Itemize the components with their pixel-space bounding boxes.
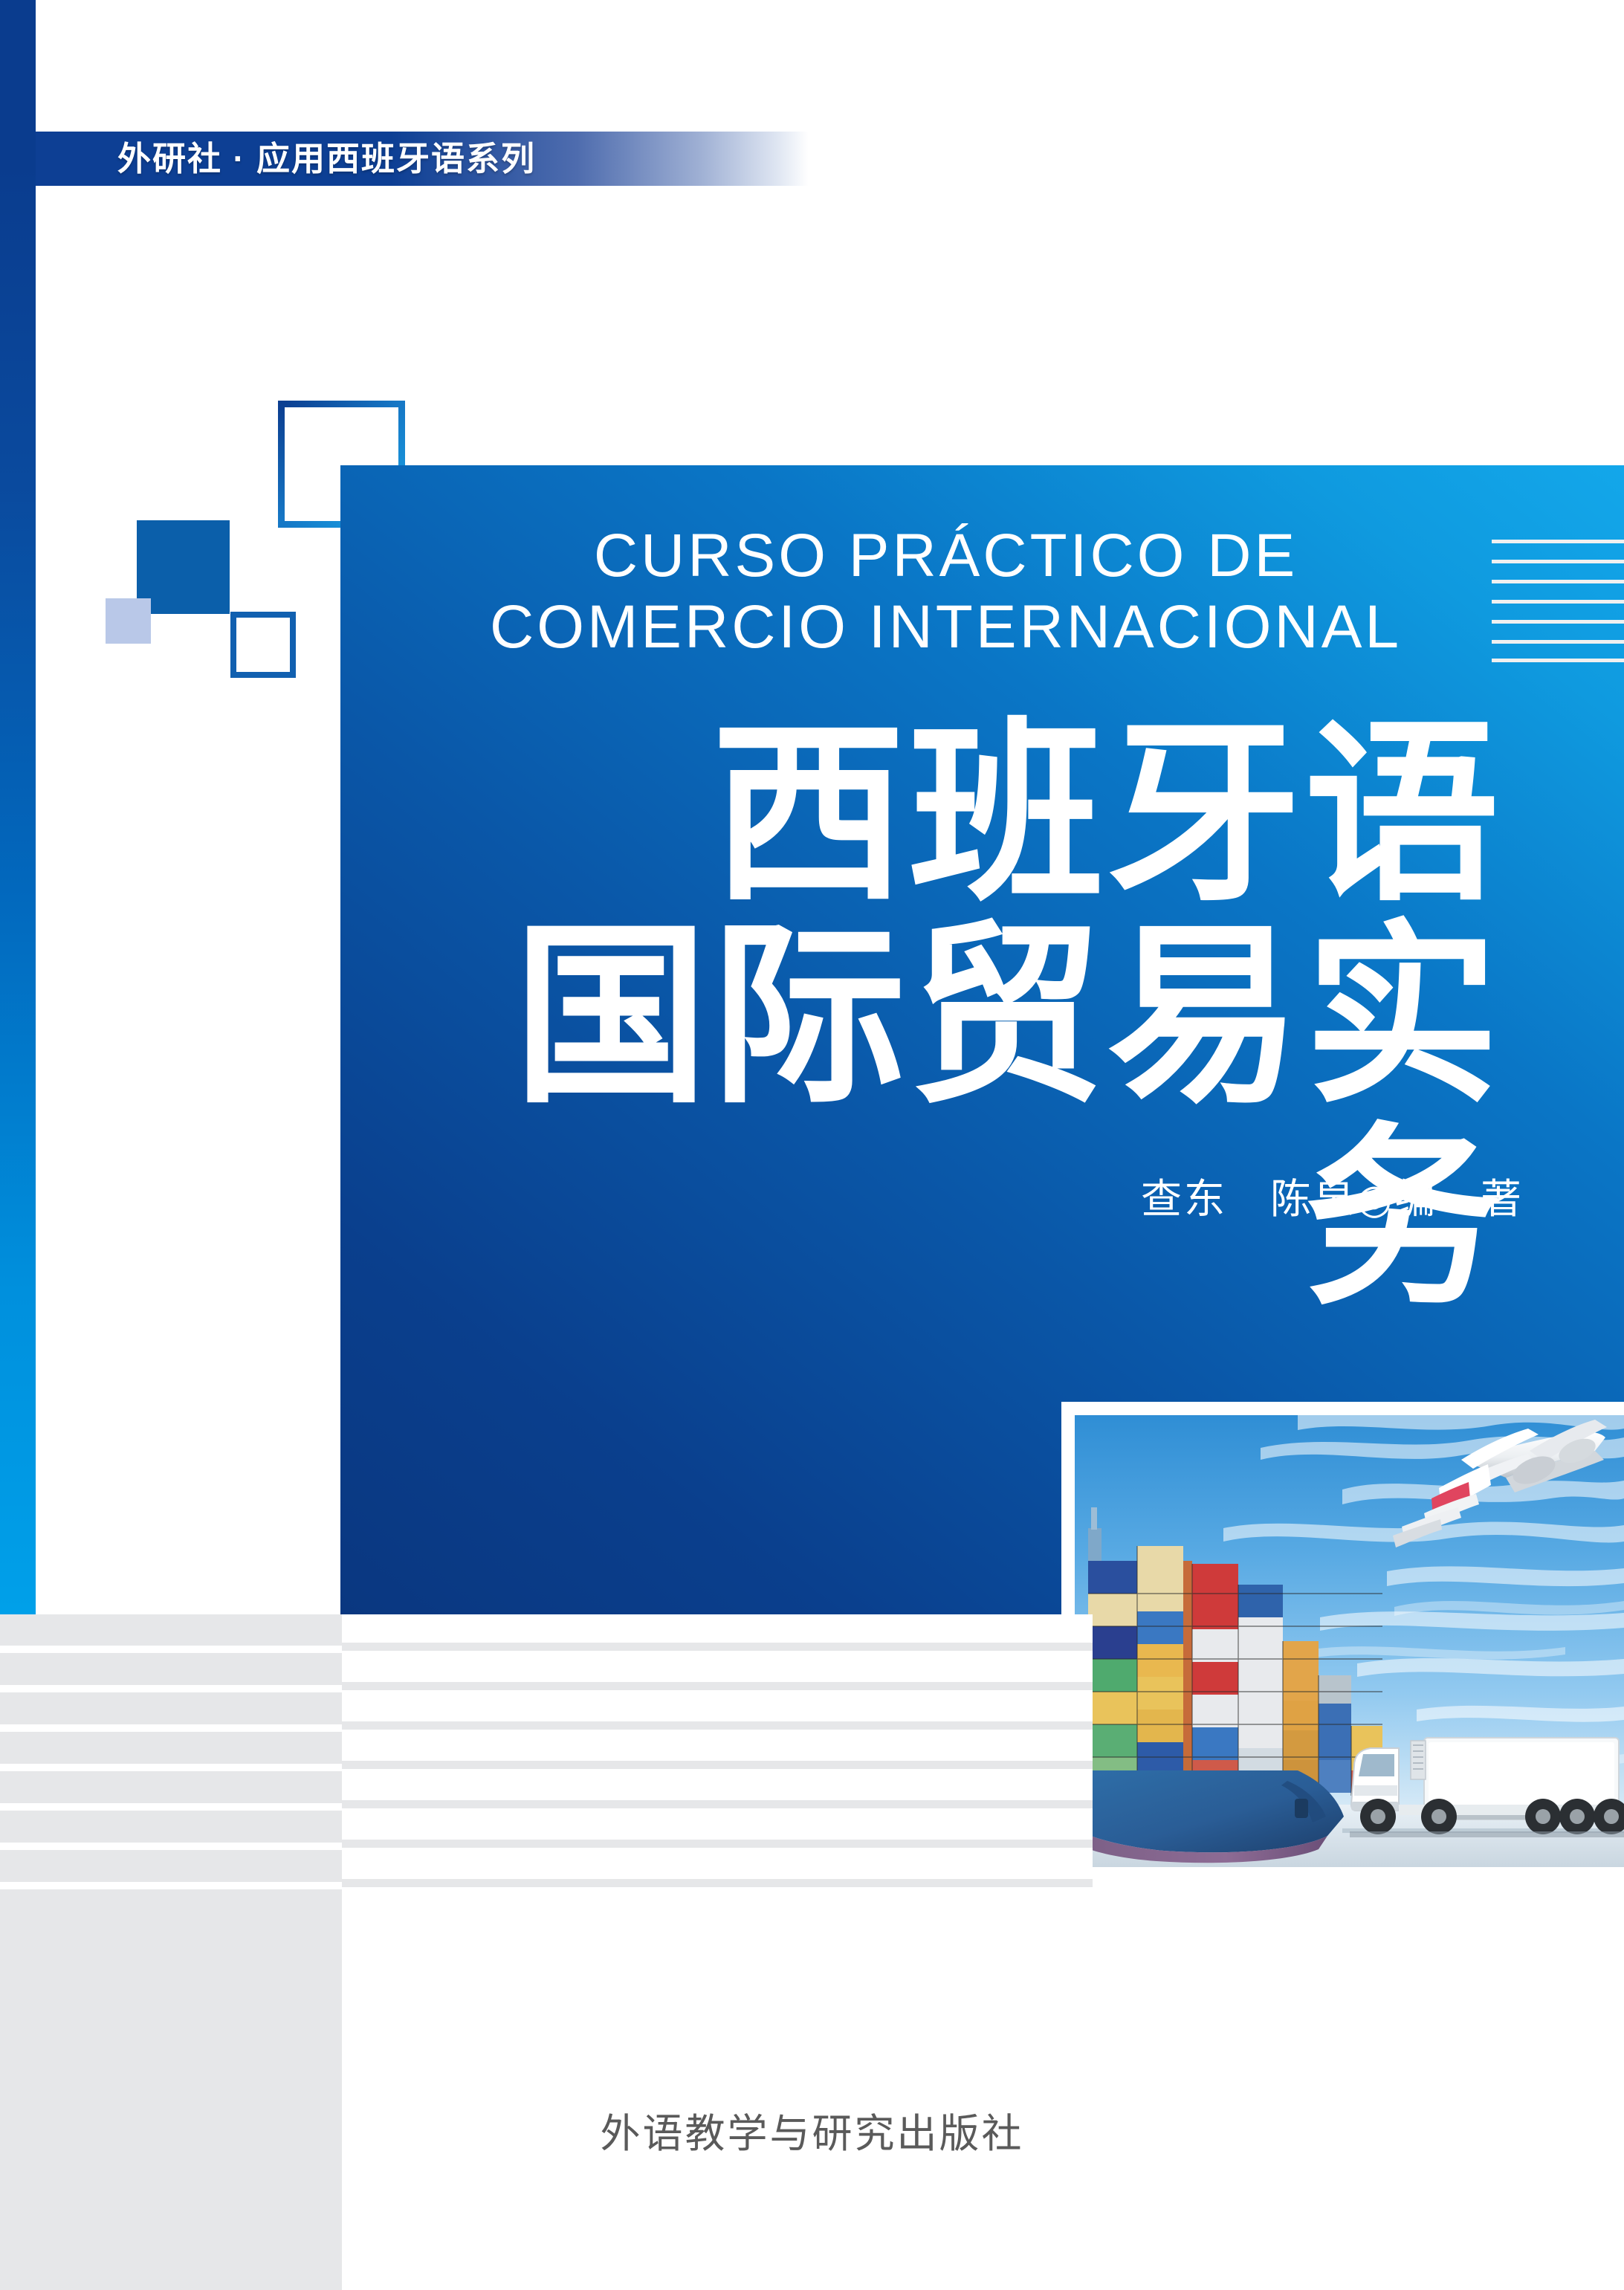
- spanish-title-line-1: CURSO PRÁCTICO DE: [416, 520, 1475, 592]
- grey-stripe-7: [342, 1879, 1093, 1887]
- decorative-line-1: [1492, 540, 1624, 543]
- chinese-title-line-1: 西班牙语: [416, 714, 1520, 916]
- square-pale-small-icon: [106, 598, 151, 644]
- page-title: 西班牙语 国际贸易实务: [416, 714, 1520, 1320]
- chinese-title-line-2: 国际贸易实务: [416, 916, 1520, 1320]
- spanish-title-line-2: COMERCIO INTERNACIONAL: [416, 592, 1475, 663]
- decorative-lines-group: [1492, 540, 1624, 662]
- decorative-line-5: [1492, 620, 1624, 624]
- logistics-illustration-icon: [1075, 1415, 1624, 1867]
- decorative-line-3: [1492, 580, 1624, 583]
- grey-stripe-block-middle: [342, 1614, 1093, 1927]
- grey-stripe-2: [342, 1682, 1093, 1690]
- publisher-name: 外语教学与研究出版社: [0, 2100, 1624, 2159]
- grey-stripe-gap-7: [0, 1882, 342, 1889]
- grey-stripe-6: [342, 1840, 1093, 1848]
- grey-stripe-gap-3: [0, 1724, 342, 1732]
- decorative-line-4: [1492, 600, 1624, 604]
- book-cover: 外研社 · 应用西班牙语系列 CURSO PRÁCTICO DE COMERCI…: [0, 0, 1624, 2290]
- grey-stripe-5: [342, 1800, 1093, 1808]
- grey-stripe-4: [342, 1761, 1093, 1769]
- grey-stripe-gap-5: [0, 1803, 342, 1811]
- grey-stripe-1: [342, 1643, 1093, 1651]
- square-outline-small-icon: [230, 612, 296, 678]
- spanish-title: CURSO PRÁCTICO DE COMERCIO INTERNACIONAL: [416, 520, 1475, 663]
- left-accent-bar: [0, 0, 36, 1614]
- grey-stripe-3: [342, 1721, 1093, 1730]
- decorative-line-7: [1492, 659, 1624, 662]
- decorative-line-2: [1492, 560, 1624, 563]
- grey-stripe-gap-4: [0, 1764, 342, 1771]
- grey-stripe-block-left: [0, 1614, 342, 2290]
- author-line: 查东 陈泉◎编 著: [669, 1165, 1573, 1225]
- grey-stripe-gap-6: [0, 1843, 342, 1850]
- grey-stripe-gap-1: [0, 1646, 342, 1653]
- decorative-line-6: [1492, 640, 1624, 644]
- series-banner-label: 外研社 · 应用西班牙语系列: [117, 136, 638, 182]
- cover-photo: [1075, 1415, 1624, 1867]
- grey-stripe-gap-2: [0, 1685, 342, 1692]
